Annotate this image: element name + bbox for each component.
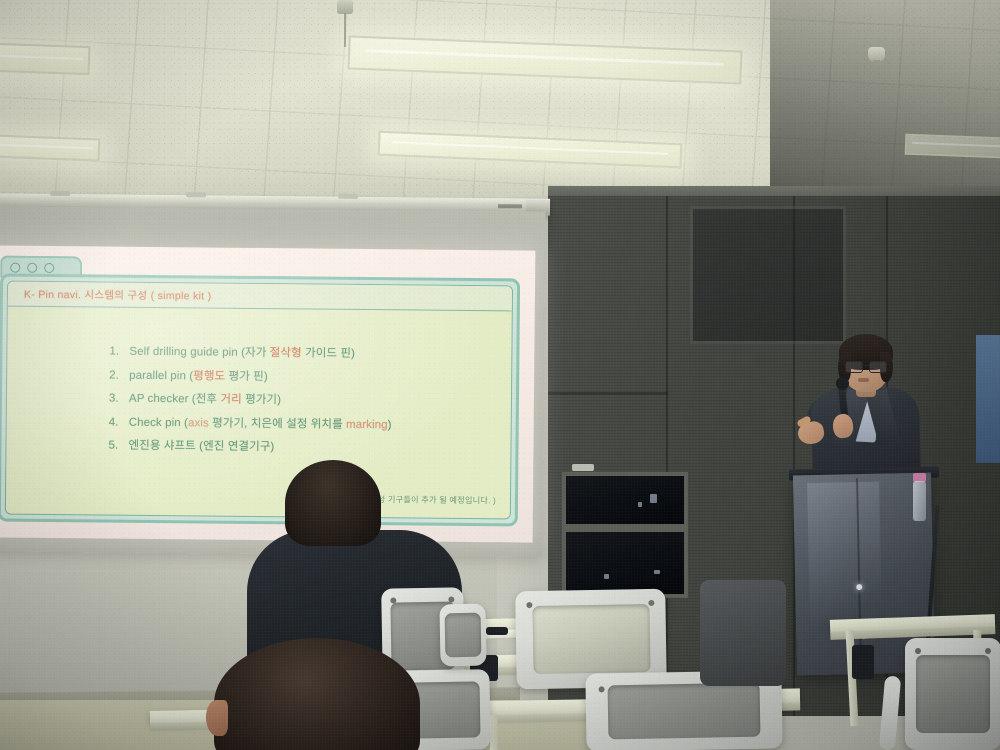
object-on-desk <box>486 627 508 635</box>
housing-clip <box>50 191 70 196</box>
window-lower <box>562 528 688 598</box>
chair-mesh-panel <box>607 682 761 739</box>
bullet-text: Self drilling guide pin (자가 절삭형 가이드 핀) <box>129 343 355 361</box>
lens-left <box>845 361 863 373</box>
chair-screw <box>448 596 454 602</box>
chair-screw <box>390 597 396 603</box>
chair-mesh-panel <box>445 613 482 657</box>
panel-divider <box>548 392 668 395</box>
chair-screw <box>915 648 921 654</box>
slide-card: K- Pin navi. 시스템의 구성 ( simple kit ) 1. S… <box>0 274 520 527</box>
slide-bullet-item: 5. 엔진용 샤프트 (엔진 연결기구) <box>108 437 508 457</box>
slide-title: K- Pin navi. 시스템의 구성 ( simple kit ) <box>8 282 512 312</box>
slide-bullet-list: 1. Self drilling guide pin (자가 절삭형 가이드 핀… <box>108 343 509 457</box>
lecture-hall-photo: K- Pin navi. 시스템의 구성 ( simple kit ) 1. S… <box>0 0 1000 750</box>
slide-bullet-item: 4. Check pin (axis 평가기, 치은에 설정 위치를 marki… <box>109 413 509 433</box>
ceiling-mount-bracket <box>337 0 353 14</box>
bullet-number: 5. <box>108 440 121 452</box>
attendee-ear <box>206 700 228 736</box>
bullet-number: 4. <box>109 416 122 428</box>
lens-right <box>869 361 887 373</box>
ceiling-light-panel <box>0 133 100 161</box>
desk-leg <box>490 715 498 750</box>
window-dot-icon <box>10 263 20 273</box>
bullet-number: 2. <box>109 369 122 381</box>
housing-logo <box>498 204 522 208</box>
window-dot-icon <box>27 263 37 273</box>
panel-seam <box>666 196 668 716</box>
window-traffic-lights <box>10 263 54 273</box>
bag-under-desk <box>852 645 874 679</box>
projected-slide: K- Pin navi. 시스템의 구성 ( simple kit ) 1. S… <box>0 245 535 542</box>
chair-mesh-panel <box>916 655 991 733</box>
bullet-text: 엔진용 샤프트 (엔진 연결기구) <box>128 437 274 454</box>
ceiling-light-panel <box>0 42 90 75</box>
window-dot-icon <box>44 263 54 273</box>
presenter-mouth <box>858 378 869 382</box>
housing-clip <box>186 192 206 197</box>
ceiling-shadow <box>770 0 1000 215</box>
chair-screw <box>985 648 991 654</box>
slide-card-inner: K- Pin navi. 시스템의 구성 ( simple kit ) 1. S… <box>5 281 513 520</box>
chair-5[interactable] <box>439 604 486 667</box>
wall-banner <box>976 335 1000 463</box>
ceiling <box>0 0 1000 215</box>
attendee-head <box>285 460 381 546</box>
water-bottle <box>913 481 926 521</box>
window-far <box>690 206 846 344</box>
chair-screw <box>648 600 654 606</box>
microphone-head <box>836 377 849 390</box>
equipment-box <box>700 580 786 686</box>
bullet-number: 3. <box>109 393 122 405</box>
chair-right[interactable] <box>905 638 1000 750</box>
bullet-text: Check pin (axis 평가기, 치은에 설정 위치를 marking) <box>129 413 392 432</box>
bullet-text: parallel pin (평행도 평가 핀) <box>129 366 268 383</box>
window-upper <box>562 472 688 528</box>
chair-mesh-panel <box>532 604 650 675</box>
window-latch <box>572 464 594 471</box>
podium-indicator-light <box>856 584 862 590</box>
chair-screw <box>599 686 605 692</box>
slide-bullet-item: 1. Self drilling guide pin (자가 절삭형 가이드 핀… <box>109 343 509 363</box>
slide-bullet-item: 3. AP checker (전후 거리 평가기) <box>109 390 509 410</box>
housing-clip <box>338 194 358 199</box>
bullet-text: AP checker (전후 거리 평가기) <box>129 390 281 407</box>
sprinkler-icon <box>868 47 885 62</box>
eyeglasses-icon <box>845 361 887 372</box>
bullet-number: 1. <box>109 346 122 358</box>
chair-screw <box>526 602 532 608</box>
slide-bullet-item: 2. parallel pin (평행도 평가 핀) <box>109 366 509 386</box>
